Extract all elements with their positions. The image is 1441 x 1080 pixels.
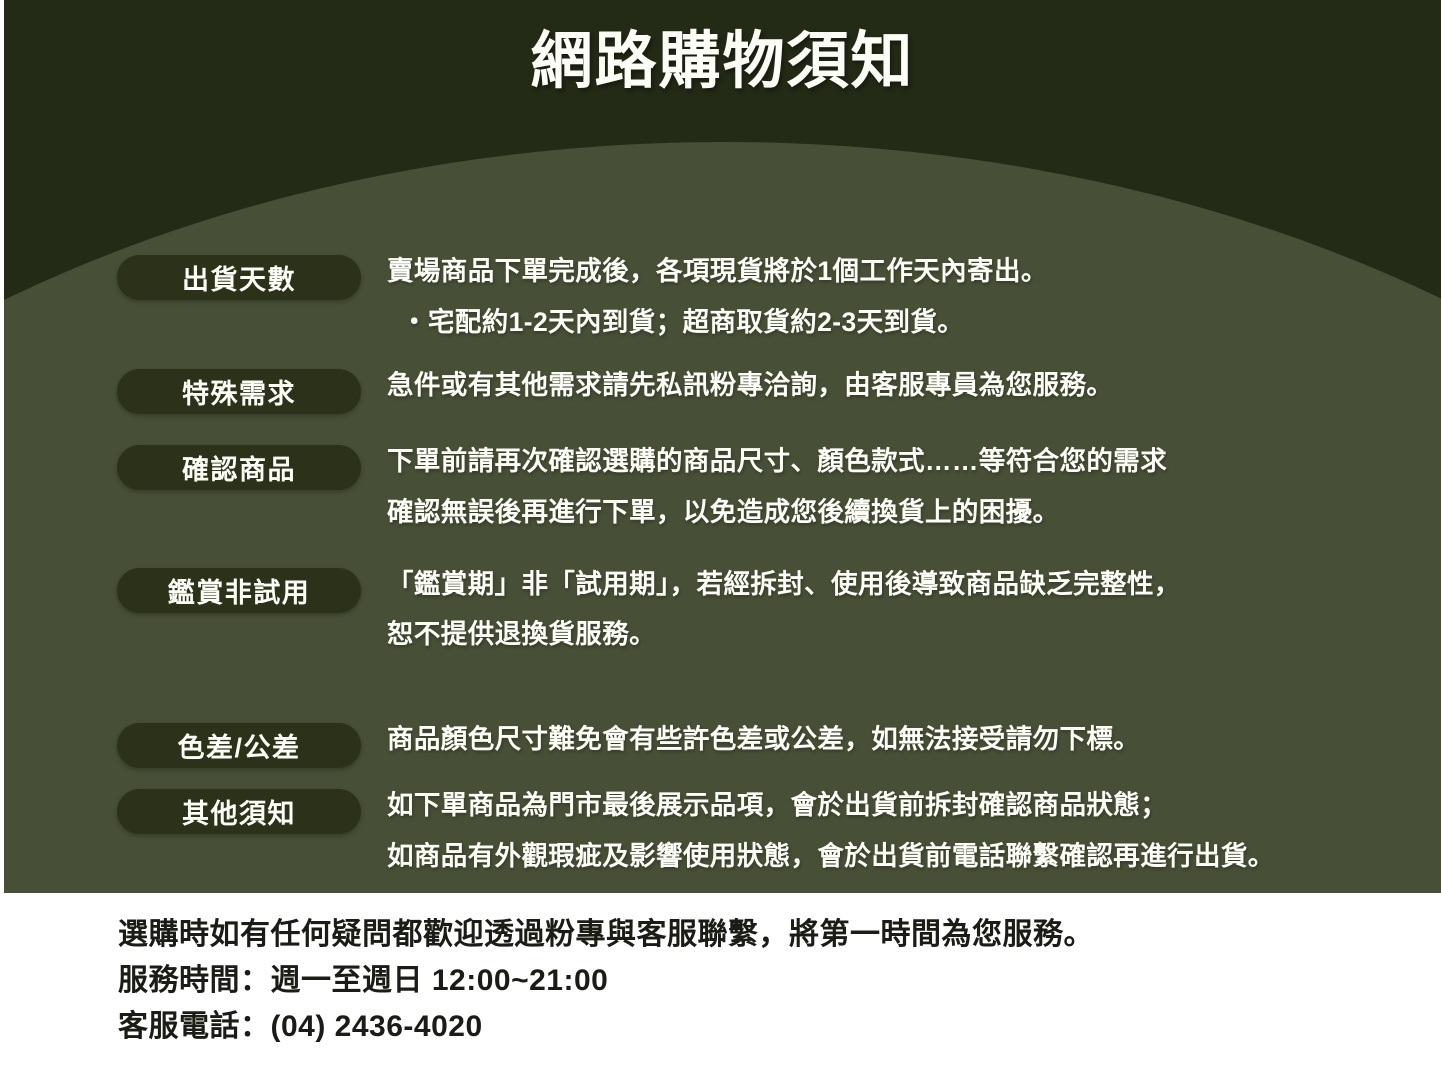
contact-footer: 選購時如有任何疑問都歡迎透過粉專與客服聯繫，將第一時間為您服務。 服務時間：週一… xyxy=(0,893,1441,1080)
notice-row: 特殊需求 急件或有其他需求請先私訊粉專洽詢，由客服專員為您服務。 xyxy=(4,360,1441,414)
section-body-line: 如下單商品為門市最後展示品項，會於出貨前拆封確認商品狀態； xyxy=(387,780,1441,831)
section-label-badge: 特殊需求 xyxy=(117,369,361,414)
section-label-badge: 其他須知 xyxy=(117,789,361,834)
section-body-line: 確認無誤後再進行下單，以免造成您後續換貨上的困擾。 xyxy=(387,487,1441,538)
section-body-line: 如商品有外觀瑕疵及影響使用狀態，會於出貨前電話聯繫確認再進行出貨。 xyxy=(387,831,1441,882)
section-body-line: 下單前請再次確認選購的商品尺寸、顏色款式……等符合您的需求 xyxy=(387,436,1441,487)
section-label-badge: 鑑賞非試用 xyxy=(117,568,361,613)
contact-line-intro: 選購時如有任何疑問都歡迎透過粉專與客服聯繫，將第一時間為您服務。 xyxy=(118,912,1094,958)
section-label-badge: 出貨天數 xyxy=(117,255,361,300)
section-body-line: 急件或有其他需求請先私訊粉專洽詢，由客服專員為您服務。 xyxy=(387,360,1441,411)
notice-row: 色差/公差 商品顏色尺寸難免會有些許色差或公差，如無法接受請勿下標。 xyxy=(4,714,1441,768)
section-body-line: 商品顏色尺寸難免會有些許色差或公差，如無法接受請勿下標。 xyxy=(387,714,1441,765)
hero-panel: 網路購物須知 出貨天數 賣場商品下單完成後，各項現貨將於1個工作天內寄出。 ・宅… xyxy=(4,0,1441,893)
section-label-badge: 確認商品 xyxy=(117,445,361,490)
notice-row: 鑑賞非試用 「鑑賞期」非「試用期」，若經拆封、使用後導致商品缺乏完整性， 恕不提… xyxy=(4,559,1441,661)
contact-line-phone: 客服電話：(04) 2436-4020 xyxy=(118,1004,1094,1050)
section-body-line: ・宅配約1-2天內到貨；超商取貨約2-3天到貨。 xyxy=(387,297,1441,348)
notice-row: 確認商品 下單前請再次確認選購的商品尺寸、顏色款式……等符合您的需求 確認無誤後… xyxy=(4,436,1441,538)
section-body-line: 恕不提供退換貨服務。 xyxy=(387,609,1441,660)
section-body: 賣場商品下單完成後，各項現貨將於1個工作天內寄出。 ・宅配約1-2天內到貨；超商… xyxy=(361,246,1441,348)
page-title: 網路購物須知 xyxy=(4,28,1441,96)
shopping-notice-page: 網路購物須知 出貨天數 賣場商品下單完成後，各項現貨將於1個工作天內寄出。 ・宅… xyxy=(0,0,1441,1080)
section-body: 急件或有其他需求請先私訊粉專洽詢，由客服專員為您服務。 xyxy=(361,360,1441,411)
contact-line-hours: 服務時間：週一至週日 12:00~21:00 xyxy=(118,958,1094,1004)
section-body: 商品顏色尺寸難免會有些許色差或公差，如無法接受請勿下標。 xyxy=(361,714,1441,765)
section-label-badge: 色差/公差 xyxy=(117,723,361,768)
section-body: 下單前請再次確認選購的商品尺寸、顏色款式……等符合您的需求 確認無誤後再進行下單… xyxy=(361,436,1441,538)
contact-footer-text: 選購時如有任何疑問都歡迎透過粉專與客服聯繫，將第一時間為您服務。 服務時間：週一… xyxy=(118,912,1094,1051)
section-body: 如下單商品為門市最後展示品項，會於出貨前拆封確認商品狀態； 如商品有外觀瑕疵及影… xyxy=(361,780,1441,882)
notice-row: 出貨天數 賣場商品下單完成後，各項現貨將於1個工作天內寄出。 ・宅配約1-2天內… xyxy=(4,246,1441,348)
section-body-line: 賣場商品下單完成後，各項現貨將於1個工作天內寄出。 xyxy=(387,246,1441,297)
notice-section-list: 出貨天數 賣場商品下單完成後，各項現貨將於1個工作天內寄出。 ・宅配約1-2天內… xyxy=(4,246,1441,882)
section-body: 「鑑賞期」非「試用期」，若經拆封、使用後導致商品缺乏完整性， 恕不提供退換貨服務… xyxy=(361,559,1441,661)
notice-row: 其他須知 如下單商品為門市最後展示品項，會於出貨前拆封確認商品狀態； 如商品有外… xyxy=(4,780,1441,882)
section-body-line: 「鑑賞期」非「試用期」，若經拆封、使用後導致商品缺乏完整性， xyxy=(387,559,1441,610)
